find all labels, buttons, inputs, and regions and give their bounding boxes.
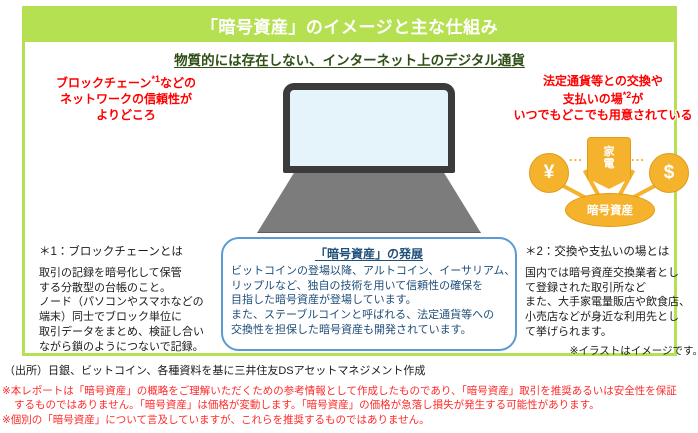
footnote-block-blockchain: ＊1：ブロックチェーンとは 取引の記録を暗号化して保管 する分散型の台帳のこと。… xyxy=(39,243,219,354)
footnote-right-body: 国内では暗号資産交換業者とし て登録された取引所など また、大手家電量販店や飲食… xyxy=(525,266,698,340)
center-box-line: また、ステーブルコインと呼ばれる、法定通貨等への xyxy=(231,308,507,323)
footnote-right-line: 小売店などが身近な利用先とし xyxy=(525,310,698,325)
crypto-development-box: 「暗号資産」の発展 ビットコインの登場以降、アルトコイン、イーサリアム、 リップ… xyxy=(221,237,517,351)
laptop-base-shape xyxy=(257,171,481,233)
appliance-label-line1: 家 xyxy=(604,147,615,159)
callout-right-line2-pre: 支払いの場 xyxy=(563,92,623,106)
footnote-left-line: 端末）同士でブロック単位に xyxy=(39,310,219,325)
footnote-left-line: する分散型の台帳のこと。 xyxy=(39,281,219,296)
page-title: 「暗号資産」のイメージと主な仕組み xyxy=(201,13,498,38)
laptop-icon xyxy=(257,83,481,231)
infographic-card: 「暗号資産」のイメージと主な仕組み 物質的には存在しない、インターネット上のデジ… xyxy=(22,6,677,356)
appliance-label-line2: 電 xyxy=(604,159,615,171)
center-box-line: リップルなど、独自の技術を用いて信頼性の確保を xyxy=(231,279,507,294)
callout-right-line2-post: が xyxy=(631,92,643,106)
ellipsis-left-icon: ... xyxy=(569,149,583,164)
crypto-asset-label: 暗号資産 xyxy=(587,202,633,218)
footnote-left-title: ＊1：ブロックチェーンとは xyxy=(39,243,219,259)
network-diagram: ¥ $ 家 電 暗号資産 ... ... xyxy=(529,137,689,229)
callout-left-line3: よりどころ xyxy=(37,107,215,123)
laptop-screen-shape xyxy=(283,83,455,173)
footnote-right-line: 国内では暗号資産交換業者とし xyxy=(525,266,698,281)
yen-currency-icon: ¥ xyxy=(529,153,569,193)
center-box-line: 交換性を担保した暗号資産も開発されています。 xyxy=(231,323,507,338)
footnote-left-body: 取引の記録を暗号化して保管 する分散型の台帳のこと。 ノード（パソコンやスマホな… xyxy=(39,266,219,354)
source-line: （出所）日銀、ビットコイン、各種資料を基に三井住友DSアセットマネジメント作成 xyxy=(4,362,425,378)
home-appliance-tag-icon: 家 電 xyxy=(587,137,631,179)
callout-right-footnote-marker: *2 xyxy=(623,90,632,100)
header-bar: 「暗号資産」のイメージと主な仕組み xyxy=(25,9,674,42)
illustration-disclaimer: ※イラストはイメージです。 xyxy=(525,343,698,358)
disclaimer-line: ※個別の「暗号資産」について言及していますが、これらを推奨するものではありません… xyxy=(2,413,696,427)
footnote-right-title: ＊2：交換や支払いの場とは xyxy=(525,243,698,259)
disclaimer-line: ※本レポートは「暗号資産」の概略をご理解いただくための参考情報として作成したもの… xyxy=(2,384,696,398)
callout-right-line1: 法定通貨等との交換や xyxy=(505,73,698,89)
callout-right: 法定通貨等との交換や 支払いの場*2が いつでもどこでも用意されている xyxy=(505,73,698,124)
footnote-right-line: て挙げられます。 xyxy=(525,325,698,340)
center-box-line: 目指した暗号資産が登場しています。 xyxy=(231,293,507,308)
callout-left-line1: ブロックチェーン*1などの xyxy=(37,73,215,91)
center-box-line: ビットコインの登場以降、アルトコイン、イーサリアム、 xyxy=(231,264,507,279)
callout-left-line2: ネットワークの信頼性が xyxy=(37,91,215,107)
disclaimer-line: するものではありません。「暗号資産」は価格が変動します。「暗号資産」の価格が急落… xyxy=(2,398,696,412)
callout-right-line2: 支払いの場*2が xyxy=(505,89,698,107)
dollar-currency-icon: $ xyxy=(649,153,689,193)
footnote-left-line: 取引データをまとめ、検証し合い xyxy=(39,325,219,340)
footnote-block-exchange: ＊2：交換や支払いの場とは 国内では暗号資産交換業者とし て登録された取引所など… xyxy=(525,243,698,358)
callout-left-footnote-marker: *1 xyxy=(151,74,160,84)
crypto-asset-node: 暗号資産 xyxy=(565,193,655,227)
footnote-left-line: ノード（パソコンやスマホなどの xyxy=(39,295,219,310)
footnote-right-line: て登録された取引所など xyxy=(525,281,698,296)
ellipsis-right-icon: ... xyxy=(631,149,645,164)
footnote-right-line: また、大手家電量販店や飲食店、 xyxy=(525,295,698,310)
callout-left-line1-post: などの xyxy=(160,76,196,90)
subtitle-text: 物質的には存在しない、インターネット上のデジタル通貨 xyxy=(25,49,674,69)
yen-symbol: ¥ xyxy=(544,162,555,184)
disclaimer-block: ※本レポートは「暗号資産」の概略をご理解いただくための参考情報として作成したもの… xyxy=(2,384,696,427)
callout-left: ブロックチェーン*1などの ネットワークの信頼性が よりどころ xyxy=(37,73,215,124)
footnote-left-line: ながら鎖のようにつないで記録。 xyxy=(39,340,219,355)
callout-left-line1-pre: ブロックチェーン xyxy=(56,76,151,90)
center-box-body: ビットコインの登場以降、アルトコイン、イーサリアム、 リップルなど、独自の技術を… xyxy=(231,264,507,337)
center-box-title: 「暗号資産」の発展 xyxy=(231,245,507,262)
dollar-symbol: $ xyxy=(664,162,675,184)
callout-right-line3: いつでもどこでも用意されている xyxy=(505,107,698,123)
footnote-left-line: 取引の記録を暗号化して保管 xyxy=(39,266,219,281)
